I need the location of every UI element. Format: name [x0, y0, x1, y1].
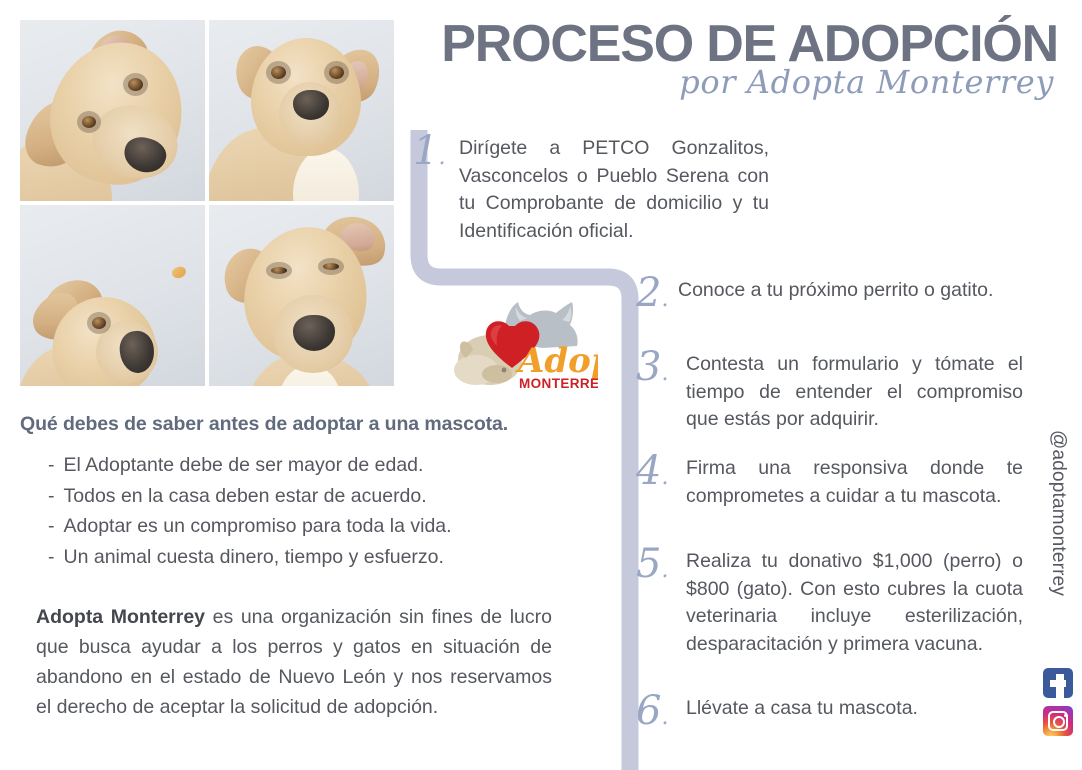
organization-name: Adopta Monterrey: [36, 606, 205, 628]
facebook-icon[interactable]: [1043, 668, 1073, 698]
step-item-6: 6. Llévate a casa tu mascota.: [636, 692, 1036, 737]
step-item-2: 2. Conoce a tu próximo perrito o gatito.: [636, 274, 1036, 319]
social-handle-text: @adoptamonterrey: [1047, 430, 1069, 652]
organization-paragraph: Adopta Monterrey es una organización sin…: [36, 602, 552, 722]
bullet-dash: -: [48, 511, 55, 542]
title-block: PROCESO DE ADOPCIÓN por Adopta Monterrey: [418, 16, 1058, 100]
step-number-5: 5.: [636, 545, 686, 590]
social-rail: @adoptamonterrey: [1038, 430, 1078, 762]
step-item-4: 4. Firma una responsiva donde te comprom…: [636, 452, 1036, 510]
bullet-dash: -: [48, 542, 55, 573]
instagram-icon[interactable]: [1043, 706, 1073, 736]
bullet-dash: -: [48, 450, 55, 481]
step-number-3: 3.: [636, 348, 686, 393]
dog-photo-grid: [20, 20, 394, 386]
step-text-1: Dirígete a PETCO Gonzalitos, Vasconcelos…: [459, 132, 769, 245]
step-text-5: Realiza tu donativo $1,000 (perro) o $80…: [686, 545, 1023, 658]
dog-photo-top-left: [20, 20, 205, 201]
step-item-3: 3. Contesta un formulario y tómate el ti…: [636, 348, 1036, 434]
requirements-list: - El Adoptante debe de ser mayor de edad…: [48, 450, 608, 572]
dog-photo-bottom-right: [209, 205, 394, 386]
dog-photo-bottom-left: [20, 205, 205, 386]
step-number-6: 6.: [636, 692, 686, 737]
instagram-dot: [1064, 714, 1067, 717]
list-item: - Un animal cuesta dinero, tiempo y esfu…: [48, 542, 608, 573]
list-item: - Todos en la casa deben estar de acuerd…: [48, 481, 608, 512]
bullet-text: Adoptar es un compromiso para toda la vi…: [64, 511, 452, 542]
step-text-2: Conoce a tu próximo perrito o gatito.: [678, 274, 1023, 305]
bullet-text: Un animal cuesta dinero, tiempo y esfuer…: [64, 542, 444, 573]
logo-sub-text: MONTERREY: [519, 376, 598, 391]
step-number-2: 2.: [636, 274, 678, 319]
step-item-5: 5. Realiza tu donativo $1,000 (perro) o …: [636, 545, 1036, 658]
step-number-1: 1.: [413, 132, 459, 177]
bullet-text: Todos en la casa deben estar de acuerdo.: [64, 481, 427, 512]
step-text-4: Firma una responsiva donde te compromete…: [686, 452, 1023, 510]
step-number-4: 4.: [636, 452, 686, 497]
list-item: - El Adoptante debe de ser mayor de edad…: [48, 450, 608, 481]
step-text-3: Contesta un formulario y tómate el tiemp…: [686, 348, 1023, 434]
bullet-text: El Adoptante debe de ser mayor de edad.: [64, 450, 424, 481]
logo-script-text: Adopta: [515, 341, 598, 381]
list-item: - Adoptar es un compromiso para toda la …: [48, 511, 608, 542]
treat-icon: [171, 265, 188, 280]
step-text-6: Llévate a casa tu mascota.: [686, 692, 1023, 723]
adopta-monterrey-logo: Adopta MONTERREY: [446, 298, 598, 394]
left-column-heading: Qué debes de saber antes de adoptar a un…: [20, 413, 610, 436]
bullet-dash: -: [48, 481, 55, 512]
instagram-lens: [1053, 716, 1065, 728]
dog-photo-top-right: [209, 20, 394, 201]
step-item-1: 1. Dirígete a PETCO Gonzalitos, Vasconce…: [413, 132, 773, 245]
